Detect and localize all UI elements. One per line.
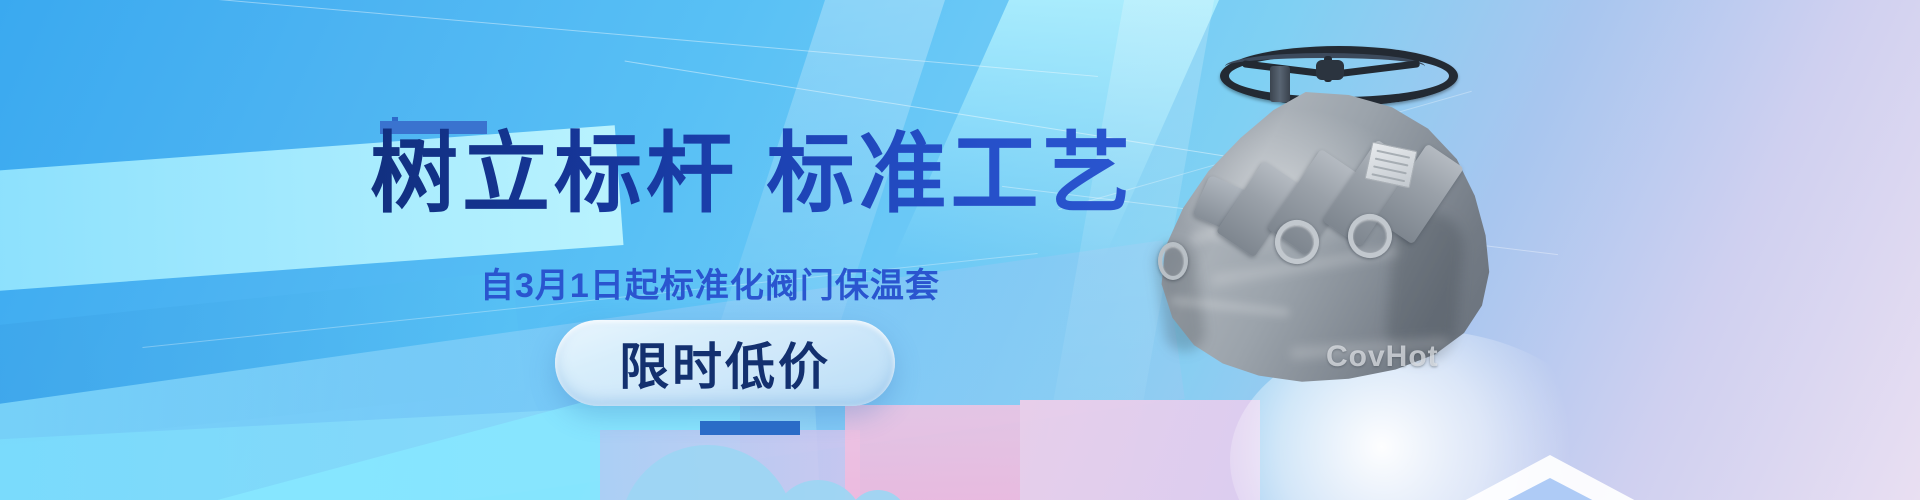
banner-content: 树立标杆 标准工艺 自3月1日起标准化阀门保温套 限时低价 [0,0,1920,500]
limited-time-price-button[interactable]: 限时低价 [555,320,895,406]
cta-bottom-rule [700,421,800,435]
cta-label: 限时低价 [619,327,831,399]
product-watermark: CovHot [1326,340,1439,374]
valve-handwheel-icon [1220,46,1440,90]
handwheel-hub [1316,60,1344,80]
strap-d-ring-3 [1158,242,1188,280]
banner-headline: 树立标杆 标准工艺 [370,125,1134,224]
insulation-jacket: CovHot [1140,92,1500,397]
banner-subheadline: 自3月1日起标准化阀门保温套 [480,258,940,307]
product-image: CovHot [1120,30,1540,430]
promo-banner: 树立标杆 标准工艺 自3月1日起标准化阀门保温套 限时低价 [0,0,1920,500]
